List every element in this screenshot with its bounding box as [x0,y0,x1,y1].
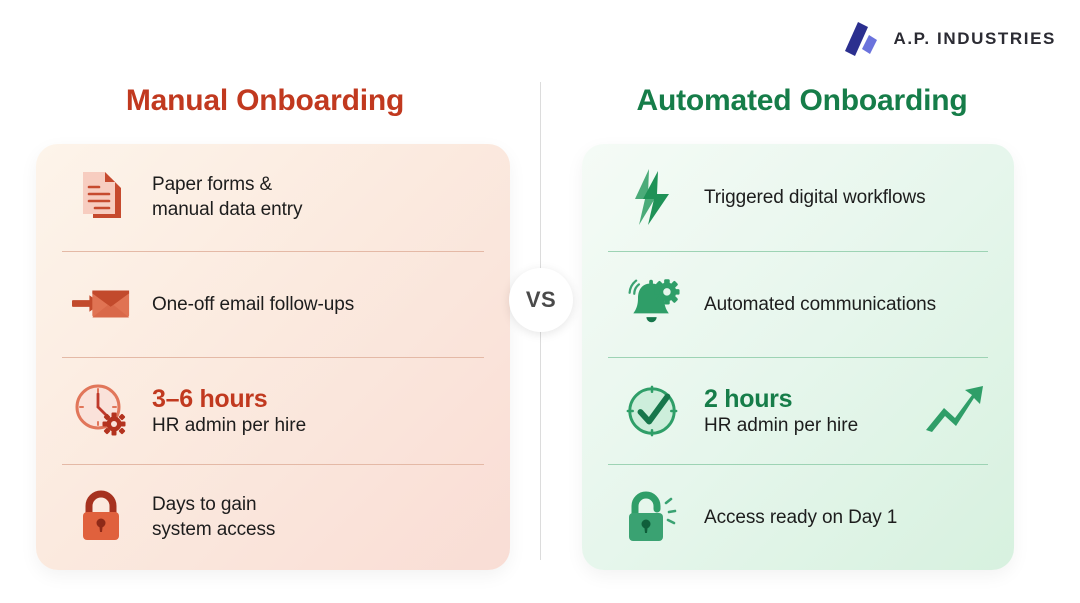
lock-closed-icon [72,487,132,547]
list-item: Access ready on Day 1 [608,464,988,571]
stat-block: 2 hours HR admin per hire [704,382,988,439]
list-item-line: Paper forms & [152,172,302,197]
list-item-text: Days to gain system access [152,492,275,543]
list-item-text: Triggered digital workflows [704,185,926,210]
stat-block: 3–6 hours HR admin per hire [152,384,484,438]
list-item-text: Automated communications [704,292,936,317]
vs-badge: VS [509,268,573,332]
column-heading-automated: Automated Onboarding [552,84,1052,118]
vs-label: VS [526,287,556,313]
logo-mark-icon [842,20,882,58]
stat-value: 3–6 hours [152,384,306,415]
lock-open-icon [624,487,680,547]
list-item: Days to gain system access [62,464,484,571]
lightning-bolt-icon [624,167,680,227]
brand-name: A.P. INDUSTRIES [893,29,1056,49]
list-item-line: Triggered digital workflows [704,185,926,210]
card-manual-onboarding: Paper forms & manual data entry One-off … [36,144,510,570]
list-item-line: Days to gain [152,492,275,517]
list-item-line: system access [152,517,275,542]
list-item: Paper forms & manual data entry [62,144,484,251]
stat-label: HR admin per hire [704,414,858,438]
clock-gear-icon [72,381,132,441]
list-item-line: manual data entry [152,197,302,222]
stat-label: HR admin per hire [152,414,306,438]
list-item: Automated communications [608,251,988,358]
list-item-text: Access ready on Day 1 [704,505,897,530]
list-item-stat: 3–6 hours HR admin per hire [62,357,484,464]
brand-logo: A.P. INDUSTRIES [842,20,1056,58]
card-automated-onboarding: Triggered digital workflows [582,144,1014,570]
email-incoming-icon [72,274,132,334]
bell-gear-icon [624,274,680,334]
document-icon [72,167,132,227]
column-heading-manual: Manual Onboarding [0,84,530,118]
list-item-text: Paper forms & manual data entry [152,172,302,223]
list-item-line: Access ready on Day 1 [704,505,897,530]
list-item: Triggered digital workflows [608,144,988,251]
list-item-stat: 2 hours HR admin per hire [608,357,988,464]
list-item-line: Automated communications [704,292,936,317]
stat-value: 2 hours [704,384,858,415]
list-item: One-off email follow-ups [62,251,484,358]
list-item-line: One-off email follow-ups [152,292,354,317]
trend-up-arrow-icon [924,382,986,439]
clock-check-icon [624,381,680,441]
list-item-text: One-off email follow-ups [152,292,354,317]
